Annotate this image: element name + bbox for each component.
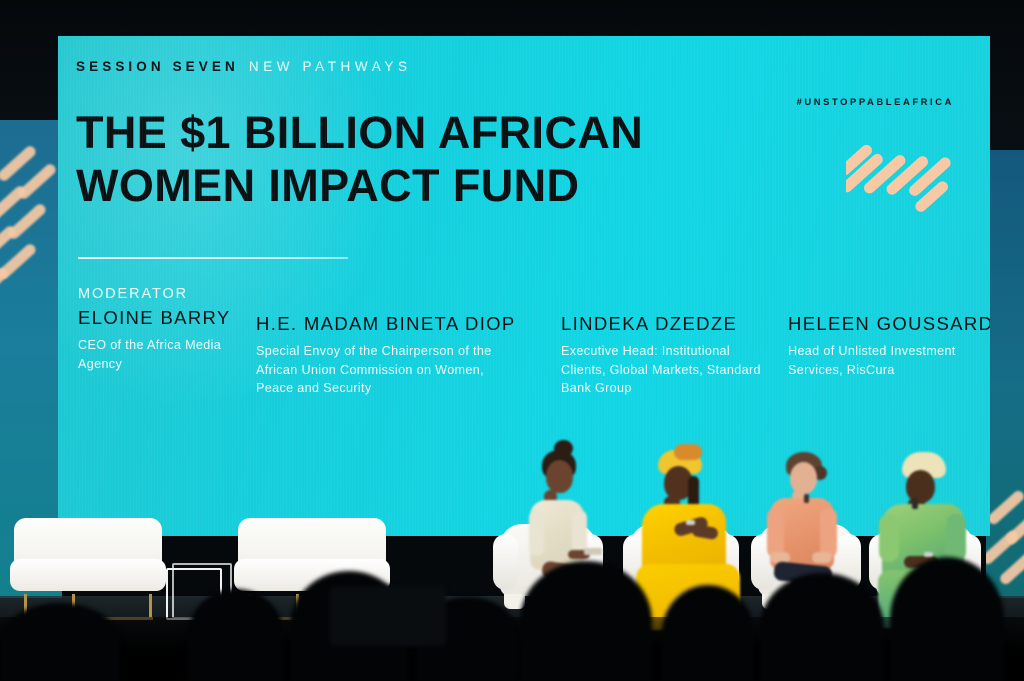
speaker-title: CEO of the Africa Media Agency — [78, 336, 228, 373]
session-label: SESSION SEVEN — [76, 59, 239, 74]
title-line-1: THE $1 BILLION AFRICAN — [76, 107, 643, 158]
venue-backdrop: SESSION SEVENNEW PATHWAYS #UNSTOPPABLEAF… — [0, 0, 1024, 681]
audience-silhouette — [520, 561, 652, 681]
speaker-role: MODERATOR — [78, 286, 258, 302]
audience-silhouette — [0, 603, 120, 681]
speaker-card-moderator: MODERATOR ELOINE BARRY CEO of the Africa… — [78, 286, 258, 373]
stage-equipment-case — [330, 586, 446, 646]
title-divider-rule — [78, 257, 348, 259]
speaker-title: Special Envoy of the Chairperson of the … — [256, 342, 501, 398]
audience-silhouette — [662, 585, 754, 681]
audience-silhouette — [760, 573, 884, 681]
session-theme-label: NEW PATHWAYS — [249, 59, 412, 74]
speaker-name: HELEEN GOUSSARD — [788, 313, 990, 335]
speaker-title: Head of Unlisted Investment Services, Ri… — [788, 342, 990, 379]
speaker-name: H.E. MADAM BINETA DIOP — [256, 313, 506, 335]
speaker-card-lindeka-dzedze: LINDEKA DZEDZE Executive Head: Instituti… — [561, 313, 776, 398]
speaker-card-bineta-diop: H.E. MADAM BINETA DIOP Special Envoy of … — [256, 313, 506, 398]
diagonal-stripes-motif — [846, 120, 966, 240]
speaker-card-heleen-goussard: HELEEN GOUSSARD Head of Unlisted Investm… — [788, 313, 990, 379]
right-side-led-panel — [986, 150, 1024, 620]
audience-silhouette — [890, 557, 1004, 681]
page-title: THE $1 BILLION AFRICAN WOMEN IMPACT FUND — [76, 106, 776, 212]
event-hashtag: #UNSTOPPABLEAFRICA — [797, 96, 954, 107]
session-eyebrow: SESSION SEVENNEW PATHWAYS — [76, 58, 412, 76]
audience-silhouette — [188, 589, 284, 681]
speaker-title: Executive Head: Institutional Clients, G… — [561, 342, 761, 398]
empty-sofa-left — [14, 518, 162, 596]
title-line-2: WOMEN IMPACT FUND — [76, 159, 776, 212]
speaker-name: ELOINE BARRY — [78, 307, 258, 329]
speaker-name: LINDEKA DZEDZE — [561, 313, 776, 335]
